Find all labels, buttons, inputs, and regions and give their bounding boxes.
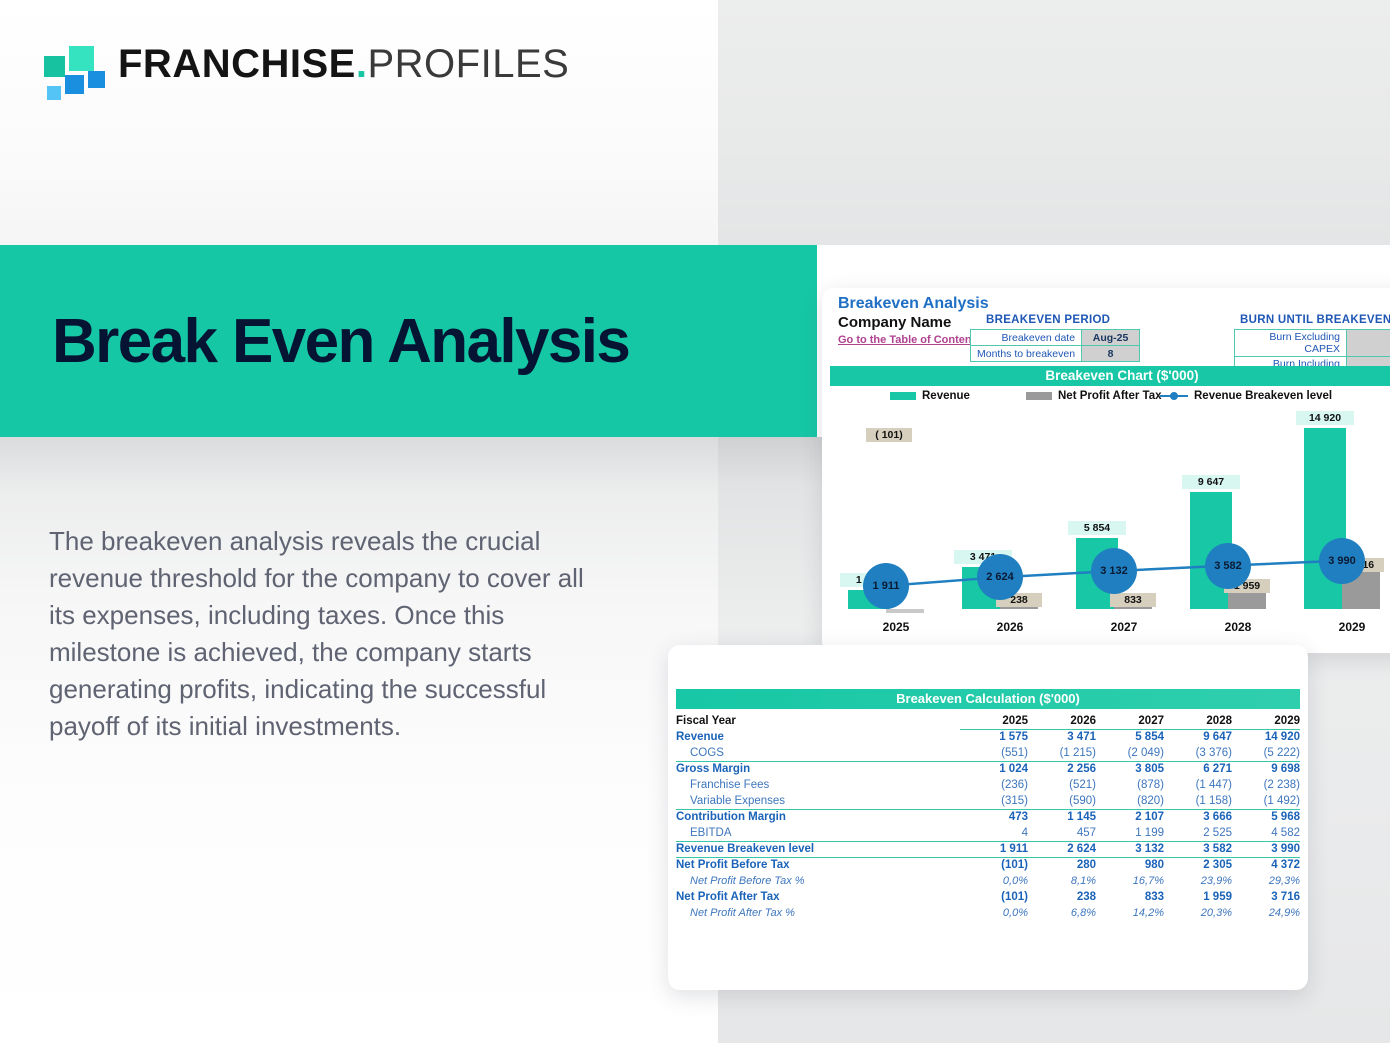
table-row: Franchise Fees(236)(521)(878)(1 447)(2 2… xyxy=(676,777,1300,793)
months-to-breakeven-value: 8 xyxy=(1082,346,1140,362)
row-value: (315) xyxy=(960,793,1028,809)
row-value: 9 698 xyxy=(1232,761,1300,777)
row-value: 280 xyxy=(1028,857,1096,873)
row-value: 833 xyxy=(1096,889,1164,905)
page-title: Break Even Analysis xyxy=(52,306,629,377)
row-value: 6,8% xyxy=(1028,905,1096,921)
row-value: 2 624 xyxy=(1028,841,1096,857)
breakeven-date-value: Aug-25 xyxy=(1082,330,1140,346)
row-value: (1 492) xyxy=(1232,793,1300,809)
row-value: 238 xyxy=(1028,889,1096,905)
table-row: Gross Margin1 0242 2563 8056 2719 698 xyxy=(676,761,1300,777)
logo-wordmark: FRANCHISE.PROFILES xyxy=(118,42,569,87)
column-header-year: 2026 xyxy=(1028,713,1096,729)
row-label: Net Profit After Tax % xyxy=(676,905,960,921)
x-axis-label: 2027 xyxy=(1068,620,1180,634)
row-value: 4 372 xyxy=(1232,857,1300,873)
legend-item-net-profit-after-tax: Net Profit After Tax xyxy=(1026,390,1162,402)
legend-item-revenue: Revenue xyxy=(890,390,970,402)
row-label: COGS xyxy=(676,745,960,761)
table-row: EBITDA44571 1992 5254 582 xyxy=(676,825,1300,841)
burn-excluding-capex-value xyxy=(1347,330,1390,357)
row-value: (101) xyxy=(960,889,1028,905)
row-value: 4 582 xyxy=(1232,825,1300,841)
table-of-contents-link[interactable]: Go to the Table of Contents xyxy=(838,334,981,346)
calculation-banner: Breakeven Calculation ($'000) xyxy=(676,689,1300,709)
row-label: Variable Expenses xyxy=(676,793,960,809)
table-row: Revenue1 5753 4715 8549 64714 920 xyxy=(676,729,1300,745)
row-value: 16,7% xyxy=(1096,873,1164,889)
row-value: 3 132 xyxy=(1096,841,1164,857)
breakeven-period-heading: BREAKEVEN PERIOD xyxy=(986,314,1110,326)
row-value: 3 716 xyxy=(1232,889,1300,905)
row-label: EBITDA xyxy=(676,825,960,841)
legend-item-revenue-breakeven-level: Revenue Breakeven level xyxy=(1160,390,1332,402)
row-value: 4 xyxy=(960,825,1028,841)
row-value: (236) xyxy=(960,777,1028,793)
background-panel-left-top xyxy=(0,0,718,245)
row-value: (551) xyxy=(960,745,1028,761)
row-value: 0,0% xyxy=(960,873,1028,889)
table-row: Variable Expenses(315)(590)(820)(1 158)(… xyxy=(676,793,1300,809)
table-row: Net Profit After Tax %0,0%6,8%14,2%20,3%… xyxy=(676,905,1300,921)
row-value: 1 911 xyxy=(960,841,1028,857)
column-header-year: 2028 xyxy=(1164,713,1232,729)
marker-revenue-breakeven-level: 3 582 xyxy=(1205,543,1251,589)
legend-swatch-icon xyxy=(890,392,916,400)
chart-plot-area: 1 575( 101)1 9113 4712382 6245 8548333 1… xyxy=(830,414,1390,609)
row-label: Revenue Breakeven level xyxy=(676,841,960,857)
hero-description: The breakeven analysis reveals the cruci… xyxy=(49,523,615,745)
legend-label: Net Profit After Tax xyxy=(1058,390,1162,402)
marker-revenue-breakeven-level: 3 132 xyxy=(1091,548,1137,594)
row-value: (1 447) xyxy=(1164,777,1232,793)
table-row: Contribution Margin4731 1452 1073 6665 9… xyxy=(676,809,1300,825)
row-label: Franchise Fees xyxy=(676,777,960,793)
table-row: Burn Excluding CAPEX xyxy=(1235,330,1390,357)
months-to-breakeven-label: Months to breakeven xyxy=(971,346,1082,362)
row-value: 5 854 xyxy=(1096,729,1164,745)
legend-label: Revenue Breakeven level xyxy=(1194,390,1332,402)
row-value: 1 199 xyxy=(1096,825,1164,841)
column-header-year: 2029 xyxy=(1232,713,1300,729)
row-value: 3 666 xyxy=(1164,809,1232,825)
row-value: (590) xyxy=(1028,793,1096,809)
column-header-year: 2027 xyxy=(1096,713,1164,729)
table-row: Revenue Breakeven level1 9112 6243 1323 … xyxy=(676,841,1300,857)
breakeven-period-table: Breakeven date Aug-25 Months to breakeve… xyxy=(970,329,1140,362)
x-axis-label: 2025 xyxy=(840,620,952,634)
row-value: 980 xyxy=(1096,857,1164,873)
row-value: 5 968 xyxy=(1232,809,1300,825)
row-value: (5 222) xyxy=(1232,745,1300,761)
legend-line-marker-icon xyxy=(1160,392,1188,400)
row-value: 1 145 xyxy=(1028,809,1096,825)
row-value: 457 xyxy=(1028,825,1096,841)
burn-until-breakeven-heading: BURN UNTIL BREAKEVEN xyxy=(1240,314,1390,326)
row-value: (878) xyxy=(1096,777,1164,793)
chart-card-title: Breakeven Analysis xyxy=(838,295,989,313)
column-header-year: 2025 xyxy=(960,713,1028,729)
row-value: 2 525 xyxy=(1164,825,1232,841)
row-value: 1 575 xyxy=(960,729,1028,745)
row-value: (3 376) xyxy=(1164,745,1232,761)
row-value: (521) xyxy=(1028,777,1096,793)
x-axis-label: 2029 xyxy=(1296,620,1390,634)
row-value: 9 647 xyxy=(1164,729,1232,745)
row-value: (1 158) xyxy=(1164,793,1232,809)
logo-word-dot: . xyxy=(356,42,368,86)
row-value: 1 959 xyxy=(1164,889,1232,905)
marker-revenue-breakeven-level: 1 911 xyxy=(863,563,909,609)
row-value: 3 582 xyxy=(1164,841,1232,857)
row-label: Revenue xyxy=(676,729,960,745)
row-value: 2 305 xyxy=(1164,857,1232,873)
chart-card-company-name: Company Name xyxy=(838,314,951,331)
bar-net-profit-after-tax xyxy=(886,609,924,613)
background-panel-right-top xyxy=(718,0,1390,245)
row-value: 6 271 xyxy=(1164,761,1232,777)
row-value: (820) xyxy=(1096,793,1164,809)
row-value: (2 238) xyxy=(1232,777,1300,793)
breakeven-date-label: Breakeven date xyxy=(971,330,1082,346)
row-value: 3 990 xyxy=(1232,841,1300,857)
logo-squares-icon xyxy=(44,46,106,102)
table-row: Months to breakeven 8 xyxy=(971,346,1140,362)
row-value: 29,3% xyxy=(1232,873,1300,889)
row-value: 3 471 xyxy=(1028,729,1096,745)
row-value: 8,1% xyxy=(1028,873,1096,889)
table-row: Net Profit Before Tax(101)2809802 3054 3… xyxy=(676,857,1300,873)
row-value: 20,3% xyxy=(1164,905,1232,921)
marker-revenue-breakeven-level: 3 990 xyxy=(1319,538,1365,584)
row-value: 2 256 xyxy=(1028,761,1096,777)
row-label: Net Profit Before Tax xyxy=(676,857,960,873)
row-value: 24,9% xyxy=(1232,905,1300,921)
row-value: 0,0% xyxy=(960,905,1028,921)
row-label: Contribution Margin xyxy=(676,809,960,825)
row-value: 2 107 xyxy=(1096,809,1164,825)
row-label: Net Profit After Tax xyxy=(676,889,960,905)
row-value: 23,9% xyxy=(1164,873,1232,889)
row-value: (101) xyxy=(960,857,1028,873)
table-header-row: Fiscal Year20252026202720282029 xyxy=(676,713,1300,729)
breakeven-calculation-card: Breakeven Calculation ($'000) Fiscal Yea… xyxy=(668,645,1308,990)
chart-banner: Breakeven Chart ($'000) xyxy=(830,366,1390,386)
row-label: Net Profit Before Tax % xyxy=(676,873,960,889)
marker-revenue-breakeven-level: 2 624 xyxy=(977,554,1023,600)
legend-swatch-icon xyxy=(1026,392,1052,400)
row-value: 3 805 xyxy=(1096,761,1164,777)
chart-legend: Revenue Net Profit After Tax Revenue Bre… xyxy=(830,390,1390,408)
row-value: (2 049) xyxy=(1096,745,1164,761)
row-value: 14 920 xyxy=(1232,729,1300,745)
x-axis-label: 2028 xyxy=(1182,620,1294,634)
row-label: Gross Margin xyxy=(676,761,960,777)
table-row: Breakeven date Aug-25 xyxy=(971,330,1140,346)
table-row: Net Profit After Tax(101)2388331 9593 71… xyxy=(676,889,1300,905)
x-axis-label: 2026 xyxy=(954,620,1066,634)
row-value: 14,2% xyxy=(1096,905,1164,921)
burn-excluding-capex-label: Burn Excluding CAPEX xyxy=(1235,330,1347,357)
legend-label: Revenue xyxy=(922,390,970,402)
row-value: 1 024 xyxy=(960,761,1028,777)
logo-word-secondary: PROFILES xyxy=(367,42,569,86)
row-value: 473 xyxy=(960,809,1028,825)
breakeven-calculation-table: Fiscal Year20252026202720282029Revenue1 … xyxy=(676,713,1300,921)
brand-logo: FRANCHISE.PROFILES xyxy=(44,44,544,106)
breakeven-chart-card: Breakeven Analysis Company Name Go to th… xyxy=(822,288,1390,653)
logo-word-primary: FRANCHISE xyxy=(118,42,356,86)
table-row: COGS(551)(1 215)(2 049)(3 376)(5 222) xyxy=(676,745,1300,761)
row-value: (1 215) xyxy=(1028,745,1096,761)
fiscal-year-label: Fiscal Year xyxy=(676,713,960,729)
table-row: Net Profit Before Tax %0,0%8,1%16,7%23,9… xyxy=(676,873,1300,889)
